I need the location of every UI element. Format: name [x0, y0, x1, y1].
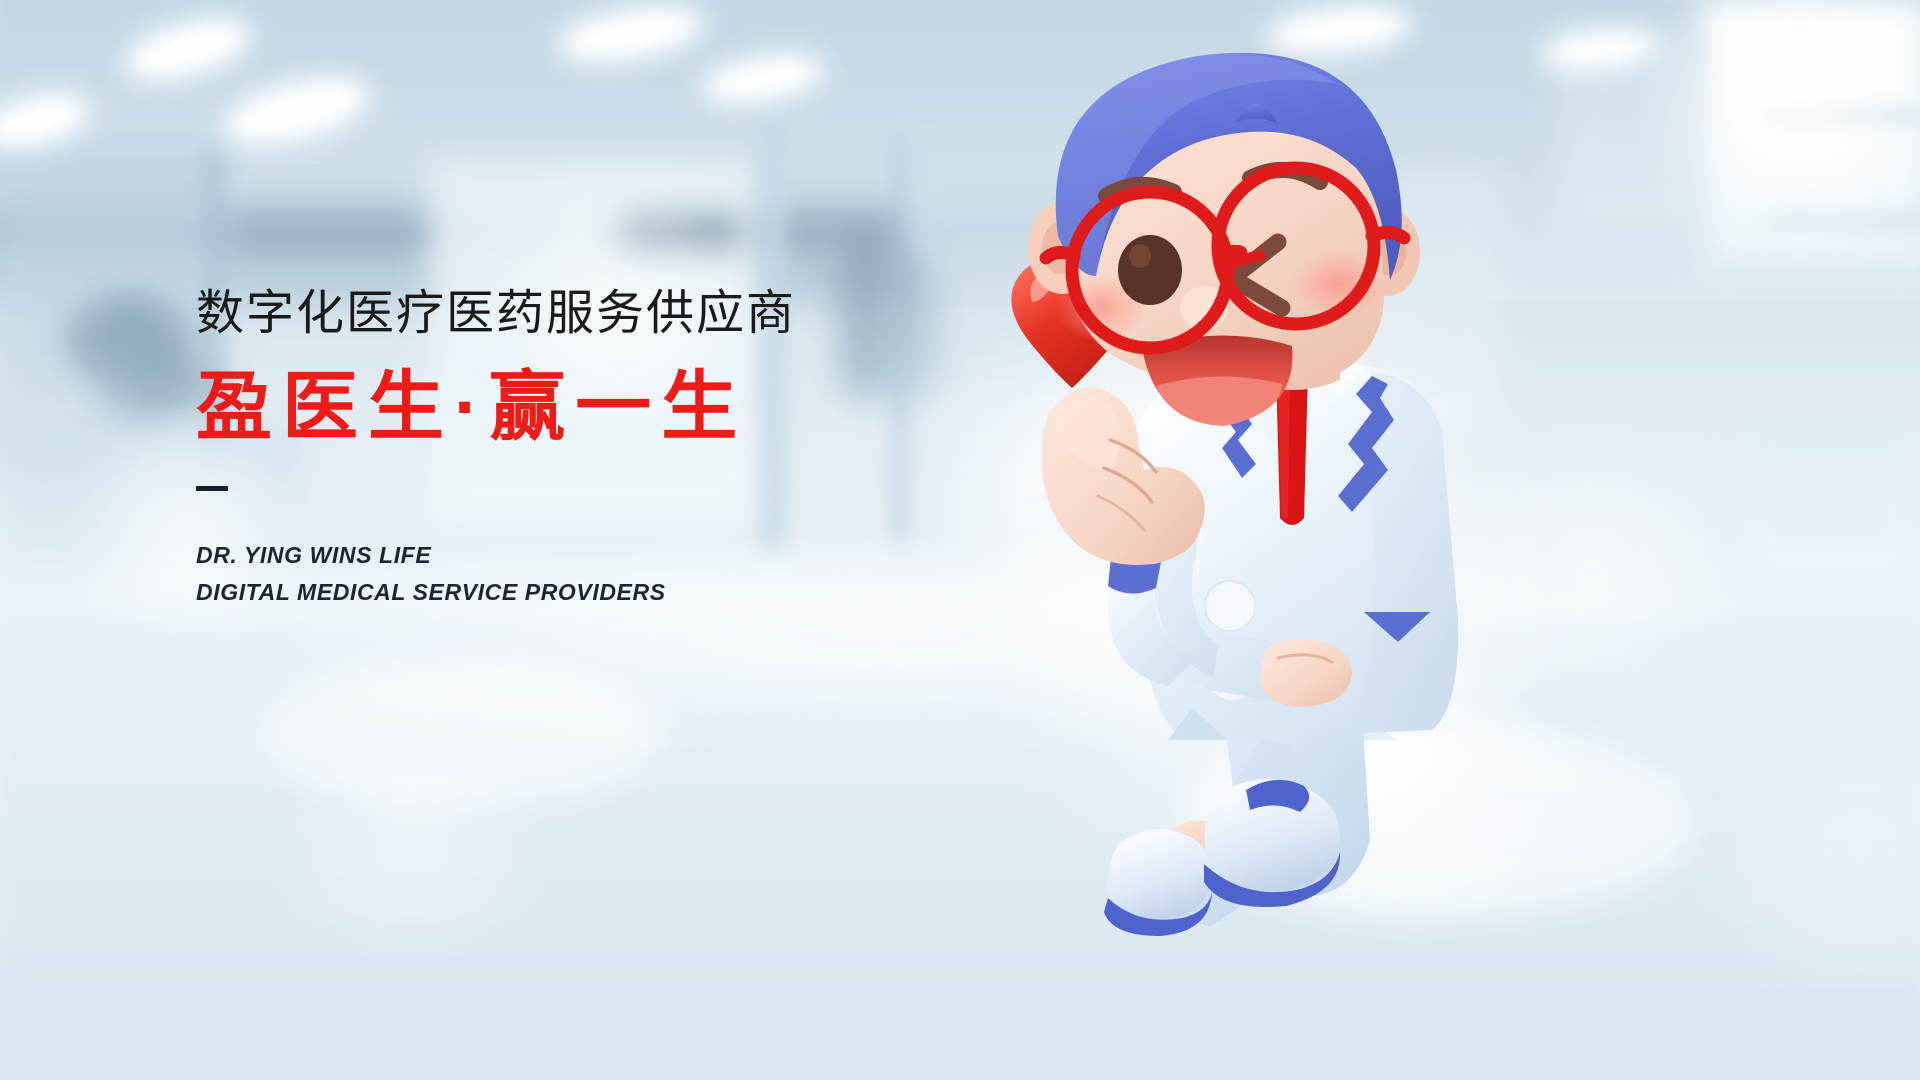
divider-rule — [196, 486, 228, 491]
hero-banner: 数字化医疗医药服务供应商 盈医生·赢一生 DR. YING WINS LIFE … — [0, 0, 1920, 1080]
tagline-line-2: DIGITAL MEDICAL SERVICE PROVIDERS — [196, 574, 1016, 611]
tagline-line-1: DR. YING WINS LIFE — [196, 537, 1016, 574]
mascot-shoe-back — [1104, 829, 1212, 936]
background-person-silhouette-3 — [96, 300, 166, 420]
mascot-shoe-front — [1204, 779, 1340, 907]
bokeh-glow-6 — [260, 770, 560, 940]
hero-copy-block: 数字化医疗医药服务供应商 盈医生·赢一生 DR. YING WINS LIFE … — [196, 286, 1016, 611]
tagline-group: DR. YING WINS LIFE DIGITAL MEDICAL SERVI… — [196, 537, 1016, 612]
background-shelf-right — [1740, 420, 1920, 570]
main-headline: 盈医生·赢一生 — [196, 365, 1016, 450]
mascot-eye-open — [1118, 235, 1182, 305]
sub-headline: 数字化医疗医药服务供应商 — [196, 286, 1016, 343]
mascot-doctor-character — [960, 40, 1640, 1040]
